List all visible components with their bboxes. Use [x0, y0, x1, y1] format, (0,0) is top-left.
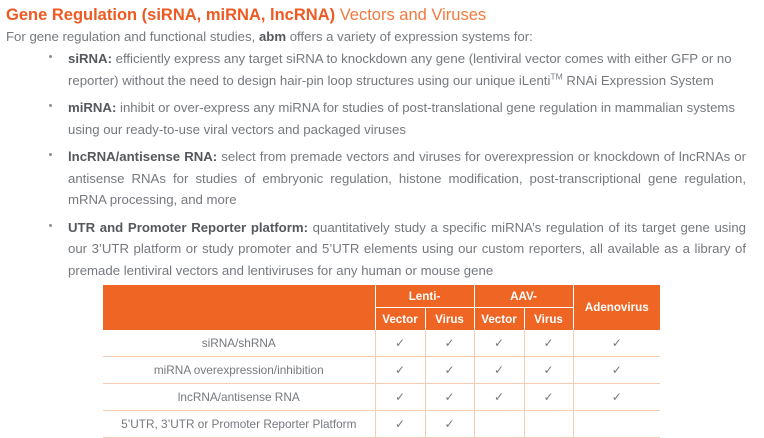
- intro-paragraph: For gene regulation and functional studi…: [6, 27, 533, 46]
- table-cell-check: ✓: [474, 384, 524, 411]
- list-item: siRNA: efficiently express any target si…: [0, 48, 764, 91]
- table-cell-check: ✓: [375, 411, 425, 438]
- bullet-dot-icon: [49, 153, 52, 156]
- table-row-label: miRNA overexpression/inhibition: [103, 357, 375, 384]
- vector-virus-comparison-table: Lenti- AAV- Adenovirus Vector Virus Vect…: [103, 285, 660, 438]
- feature-bullet-list: siRNA: efficiently express any target si…: [0, 48, 764, 287]
- page-root: Gene Regulation (siRNA, miRNA, lncRNA) V…: [0, 0, 764, 437]
- table-cell-check: ✓: [375, 330, 425, 357]
- intro-before: For gene regulation and functional studi…: [6, 29, 259, 44]
- list-item-text: lncRNA/antisense RNA: select from premad…: [68, 146, 764, 211]
- table-cell-empty: [573, 411, 660, 438]
- table-cell-check: ✓: [375, 357, 425, 384]
- table-body: siRNA/shRNA ✓ ✓ ✓ ✓ ✓ miRNA overexpressi…: [103, 330, 660, 438]
- list-item-body: inhibit or over-express any miRNA for st…: [68, 100, 735, 137]
- bullet-dot-icon: [49, 55, 52, 58]
- list-item-lead: miRNA:: [68, 100, 116, 115]
- bullet-dot-icon: [49, 224, 52, 227]
- table-row-label: lncRNA/antisense RNA: [103, 384, 375, 411]
- table-cell-check: ✓: [524, 330, 573, 357]
- bullet-dot-icon: [49, 104, 52, 107]
- table-row: siRNA/shRNA ✓ ✓ ✓ ✓ ✓: [103, 330, 660, 357]
- brand-name: abm: [259, 29, 286, 44]
- table-header-group-row: Lenti- AAV- Adenovirus: [103, 285, 660, 308]
- list-item: lncRNA/antisense RNA: select from premad…: [0, 146, 764, 211]
- intro-after: offers a variety of expression systems f…: [286, 29, 533, 44]
- table-header-group-aav: AAV-: [474, 285, 573, 308]
- page-title-light: Vectors and Viruses: [335, 6, 486, 24]
- list-item-text: UTR and Promoter Reporter platform: quan…: [68, 217, 764, 282]
- trademark-superscript: TM: [550, 71, 562, 81]
- table-cell-check: ✓: [425, 357, 474, 384]
- table-head: Lenti- AAV- Adenovirus Vector Virus Vect…: [103, 285, 660, 330]
- list-item-lead: lncRNA/antisense RNA:: [68, 149, 217, 164]
- table-row: 5’UTR, 3’UTR or Promoter Reporter Platfo…: [103, 411, 660, 438]
- table-cell-empty: [524, 411, 573, 438]
- table-row-label: siRNA/shRNA: [103, 330, 375, 357]
- table-cell-check: ✓: [425, 330, 474, 357]
- table-cell-check: ✓: [474, 357, 524, 384]
- page-title-bold: Gene Regulation (siRNA, miRNA, lncRNA): [6, 6, 335, 24]
- table-cell-check: ✓: [375, 384, 425, 411]
- list-item-text: miRNA: inhibit or over-express any miRNA…: [68, 97, 764, 140]
- table-row: lncRNA/antisense RNA ✓ ✓ ✓ ✓ ✓: [103, 384, 660, 411]
- page-title: Gene Regulation (siRNA, miRNA, lncRNA) V…: [6, 4, 486, 26]
- table-cell-check: ✓: [573, 330, 660, 357]
- table-cell-check: ✓: [425, 384, 474, 411]
- table-cell-check: ✓: [524, 384, 573, 411]
- table-row-label: 5’UTR, 3’UTR or Promoter Reporter Platfo…: [103, 411, 375, 438]
- table-header-lenti-vector: Vector: [375, 308, 425, 331]
- table-row: miRNA overexpression/inhibition ✓ ✓ ✓ ✓ …: [103, 357, 660, 384]
- list-item-lead: siRNA:: [68, 51, 112, 66]
- table-header-blank-corner: [103, 285, 375, 330]
- table-cell-check: ✓: [474, 330, 524, 357]
- list-item: UTR and Promoter Reporter platform: quan…: [0, 217, 764, 282]
- table-cell-empty: [474, 411, 524, 438]
- table-header-aav-virus: Virus: [524, 308, 573, 331]
- table-header-group-lenti: Lenti-: [375, 285, 474, 308]
- list-item-text: siRNA: efficiently express any target si…: [68, 48, 764, 91]
- table-header-group-adenovirus: Adenovirus: [573, 285, 660, 330]
- table: Lenti- AAV- Adenovirus Vector Virus Vect…: [103, 285, 660, 438]
- table-header-aav-vector: Vector: [474, 308, 524, 331]
- table-cell-check: ✓: [573, 357, 660, 384]
- table-cell-check: ✓: [425, 411, 474, 438]
- table-cell-check: ✓: [524, 357, 573, 384]
- list-item-body-tail: RNAi Expression System: [563, 73, 714, 88]
- list-item: miRNA: inhibit or over-express any miRNA…: [0, 97, 764, 140]
- list-item-lead: UTR and Promoter Reporter platform:: [68, 220, 308, 235]
- table-header-lenti-virus: Virus: [425, 308, 474, 331]
- table-cell-check: ✓: [573, 384, 660, 411]
